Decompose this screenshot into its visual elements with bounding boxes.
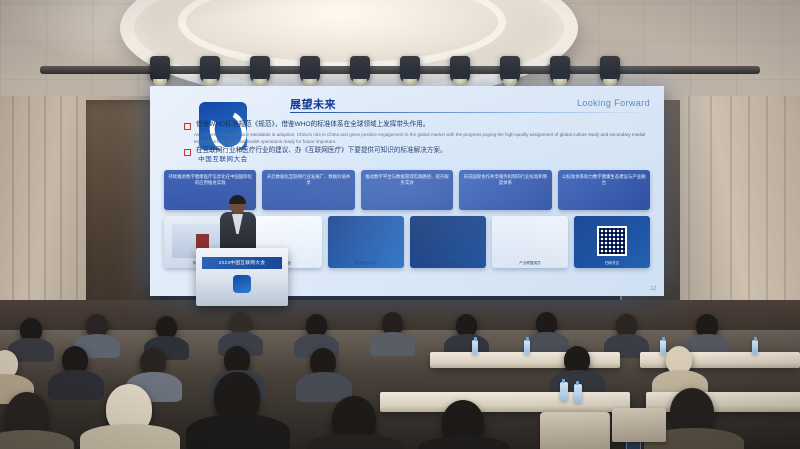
thumbnail-caption: 扫码关注 (574, 261, 650, 266)
slide-thumbnail: 数字医疗大会 (328, 216, 404, 268)
qr-code-icon (597, 226, 627, 256)
stage-lamp-icon (200, 56, 220, 82)
speaker-hair (229, 195, 246, 204)
thumbnail-caption: 行业发展报告 (410, 261, 486, 266)
slide-card: 形成国际协作共享服务机制的行业标准和制度体系 (459, 170, 551, 210)
water-bottle (752, 340, 758, 355)
conference-hall-photo: 中国互联网大会 展望未来 Looking Forward 借鉴WHO标准规范《规… (0, 0, 800, 449)
conference-table (380, 392, 630, 412)
bullet-text-cn: 借鉴WHO标准规范《规范》，借鉴WHO的标准体系在全球领域上发挥带头作用。 (196, 120, 429, 130)
slide-card: 以标准体系助力数字健康生态建设与产业融合 (558, 170, 650, 210)
slide-thumbnail: 行业发展报告 (410, 216, 486, 268)
stage-lamp-icon (600, 56, 620, 82)
stage-lamp-icon (500, 56, 520, 82)
bullet-square-icon (184, 149, 191, 156)
audience-shoulders (370, 332, 415, 356)
lectern-banner-text: 2023中国互联网大会 (202, 257, 282, 269)
stage-lamp-icon (450, 56, 470, 82)
slide-title-divider (290, 112, 652, 113)
audience-chair (540, 412, 610, 449)
slide-card: 开启数据化互联网行业发展广、数据价值共享 (262, 170, 354, 210)
slide-thumbnail-qr: 扫码关注 (574, 216, 650, 268)
thumbnail-caption: 数字医疗大会 (328, 261, 404, 266)
bullet-text-cn: 在互联网行业和医疗行业的建议、办《互联网医疗》下要提供可知识的标准解决方案。 (196, 146, 447, 156)
stage-lamp-icon (150, 56, 170, 82)
bullet-square-icon (184, 123, 191, 130)
stage-lamp-icon (550, 56, 570, 82)
slide-bullets: 借鉴WHO标准规范《规范》，借鉴WHO的标准体系在全球领域上发挥带头作用。 As… (184, 120, 650, 158)
slide-page-number: 12 (650, 286, 656, 292)
bullet-text-en: As China's national service standards in… (194, 132, 650, 146)
water-bottle (524, 340, 530, 355)
stage-lamp-icon (400, 56, 420, 82)
water-bottle (574, 384, 582, 403)
slide-card: 推动数字平台与数据管理实践路径、提升服务实效 (361, 170, 453, 210)
stage-lamp-icon (350, 56, 370, 82)
water-bottle (660, 340, 666, 355)
slide-thumbnail: 产业联盟成员 (492, 216, 568, 268)
lectern-logo-icon (233, 275, 251, 293)
lectern: 2023中国互联网大会 (196, 248, 288, 306)
audience-chair (612, 408, 666, 442)
slide-title-en: Looking Forward (577, 98, 650, 108)
water-bottle (472, 340, 478, 355)
water-bottle (560, 382, 568, 401)
audience-shoulders (186, 414, 290, 449)
audience-shoulders (80, 424, 180, 449)
stage-lamp-icon (250, 56, 270, 82)
slide-title: 展望未来 (290, 96, 336, 112)
bullet-item: 借鉴WHO标准规范《规范》，借鉴WHO的标准体系在全球领域上发挥带头作用。 (184, 120, 650, 130)
bullet-item: 在互联网行业和医疗行业的建议、办《互联网医疗》下要提供可知识的标准解决方案。 (184, 146, 650, 156)
stage-lamp-icon (300, 56, 320, 82)
thumbnail-caption: 产业联盟成员 (492, 261, 568, 266)
audience-shoulders (48, 370, 104, 400)
